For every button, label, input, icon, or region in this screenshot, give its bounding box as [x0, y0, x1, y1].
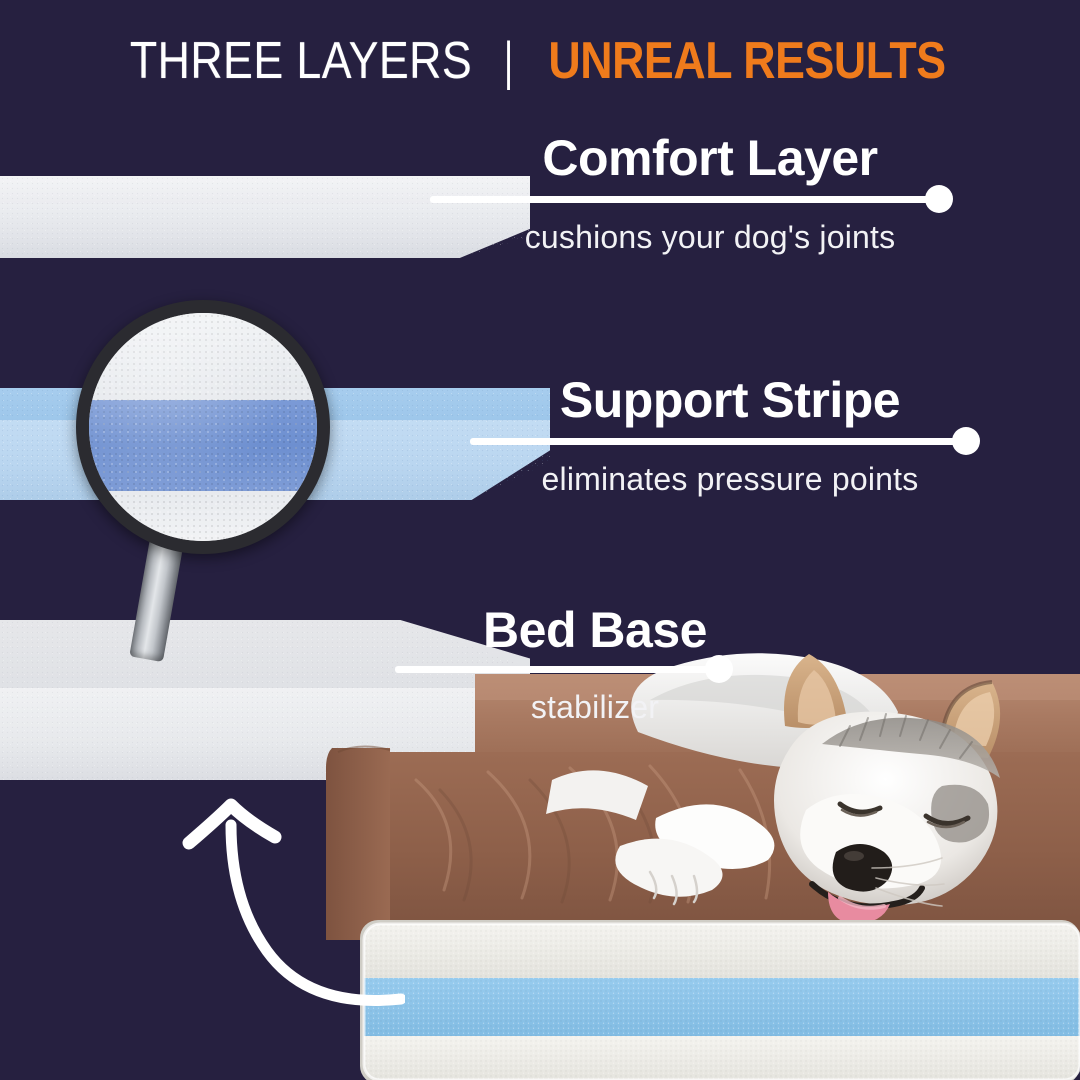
callout-support-stripe-headline: Support Stripe — [470, 372, 990, 428]
cutaway-foam-texture — [364, 924, 1080, 1080]
magnifier-lens — [76, 300, 330, 554]
arrow-curve-path — [231, 825, 401, 1000]
lens-glass-sheen — [89, 313, 317, 541]
page-title: THREE LAYERS|UNREAL RESULTS — [0, 32, 1080, 90]
callout-comfort-layer-leader-dot — [925, 185, 953, 213]
curved-arrow-pointing-up — [165, 785, 405, 1025]
infographic-canvas: THREE LAYERS|UNREAL RESULTS Comfort Laye… — [0, 0, 1080, 1080]
title-accent-text: UNREAL RESULTS — [548, 32, 945, 90]
callout-comfort-layer-leader-line — [430, 196, 940, 203]
callout-bed-base: Bed Base stabilizer — [395, 602, 795, 732]
dog-nose-highlight — [844, 851, 864, 861]
callout-support-stripe-leader-line — [470, 438, 970, 445]
callout-comfort-layer: Comfort Layer cushions your dog's joints — [430, 130, 990, 270]
callout-bed-base-subline: stabilizer — [395, 688, 795, 726]
title-primary-text: THREE LAYERS — [130, 32, 472, 90]
callout-comfort-layer-headline: Comfort Layer — [430, 130, 990, 186]
callout-bed-base-leader-line — [395, 666, 725, 673]
callout-bed-base-leader-dot — [705, 655, 733, 683]
callout-bed-base-headline: Bed Base — [395, 602, 795, 658]
magnifying-glass-icon — [62, 292, 362, 772]
callout-comfort-layer-subline: cushions your dog's joints — [430, 218, 990, 256]
callout-support-stripe: Support Stripe eliminates pressure point… — [470, 372, 990, 512]
callout-support-stripe-leader-dot — [952, 427, 980, 455]
foam-cutaway-panel — [360, 920, 1080, 1080]
title-divider: | — [503, 31, 512, 92]
callout-support-stripe-subline: eliminates pressure points — [470, 460, 990, 498]
